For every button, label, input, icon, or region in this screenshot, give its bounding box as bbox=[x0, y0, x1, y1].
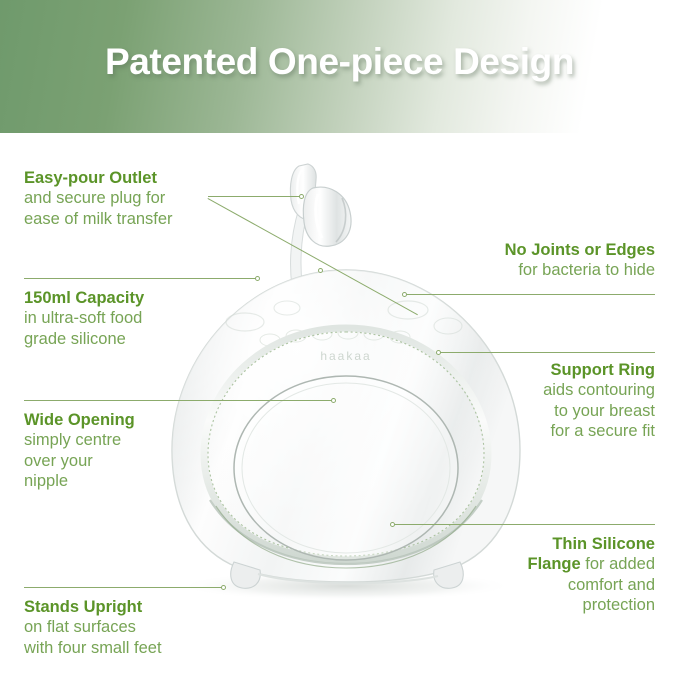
callout-no-joints-line1: for bacteria to hide bbox=[415, 260, 655, 280]
leader-dot-easy-pour-body bbox=[318, 268, 323, 273]
callout-capacity-line2: grade silicone bbox=[24, 329, 234, 349]
callout-capacity-title: 150ml Capacity bbox=[24, 288, 234, 308]
callout-thin-flange-line3: protection bbox=[415, 595, 655, 615]
callout-wide-opening-line1: simply centre bbox=[24, 430, 224, 450]
callout-no-joints: No Joints or Edges for bacteria to hide bbox=[415, 240, 655, 281]
leader-dot-stands-upright bbox=[221, 585, 226, 590]
callout-stands-upright-line1: on flat surfaces bbox=[24, 617, 254, 637]
leader-dot-easy-pour bbox=[299, 194, 304, 199]
callout-wide-opening-line2: over your bbox=[24, 451, 224, 471]
callout-support-ring-line2: to your breast bbox=[415, 401, 655, 421]
callout-thin-flange-line2: comfort and bbox=[415, 575, 655, 595]
callout-wide-opening-line3: nipple bbox=[24, 471, 224, 491]
callout-support-ring-title: Support Ring bbox=[415, 360, 655, 380]
callout-support-ring-line3: for a secure fit bbox=[415, 421, 655, 441]
leader-line-stands-upright bbox=[24, 587, 223, 588]
callout-wide-opening: Wide Opening simply centre over your nip… bbox=[24, 410, 224, 492]
callout-support-ring: Support Ring aids contouring to your bre… bbox=[415, 360, 655, 442]
brand-emboss: haakaa bbox=[320, 349, 371, 363]
callout-easy-pour-line2: ease of milk transfer bbox=[24, 209, 254, 229]
leader-dot-support-ring bbox=[436, 350, 441, 355]
leader-dot-thin-flange bbox=[390, 522, 395, 527]
callout-easy-pour-line1: and secure plug for bbox=[24, 188, 254, 208]
leader-dot-wide-opening bbox=[331, 398, 336, 403]
callout-easy-pour: Easy-pour Outlet and secure plug for eas… bbox=[24, 168, 254, 229]
callout-easy-pour-title: Easy-pour Outlet bbox=[24, 168, 254, 188]
callout-thin-flange-rest: for added bbox=[581, 555, 655, 573]
leader-line-wide-opening bbox=[24, 400, 333, 401]
callout-wide-opening-title: Wide Opening bbox=[24, 410, 224, 430]
leader-line-support-ring bbox=[440, 352, 655, 353]
callout-capacity-line1: in ultra-soft food bbox=[24, 308, 234, 328]
callout-thin-flange-title-a: Thin Silicone bbox=[415, 534, 655, 554]
spout-plug bbox=[303, 187, 351, 246]
leader-line-capacity bbox=[24, 278, 257, 279]
callout-capacity: 150ml Capacity in ultra-soft food grade … bbox=[24, 288, 234, 349]
callout-no-joints-title: No Joints or Edges bbox=[415, 240, 655, 260]
callout-stands-upright: Stands Upright on flat surfaces with fou… bbox=[24, 597, 254, 658]
callout-thin-flange-title-b: Flange for added bbox=[415, 554, 655, 574]
leader-line-thin-flange bbox=[394, 524, 655, 525]
callout-stands-upright-line2: with four small feet bbox=[24, 638, 254, 658]
leader-line-no-joints bbox=[406, 294, 655, 295]
callout-stands-upright-title: Stands Upright bbox=[24, 597, 254, 617]
callout-support-ring-line1: aids contouring bbox=[415, 380, 655, 400]
page-title: Patented One-piece Design bbox=[0, 41, 679, 83]
infographic-page: Patented One-piece Design bbox=[0, 0, 679, 679]
callout-thin-flange: Thin Silicone Flange for added comfort a… bbox=[415, 534, 655, 616]
leader-dot-no-joints bbox=[402, 292, 407, 297]
leader-dot-capacity bbox=[255, 276, 260, 281]
